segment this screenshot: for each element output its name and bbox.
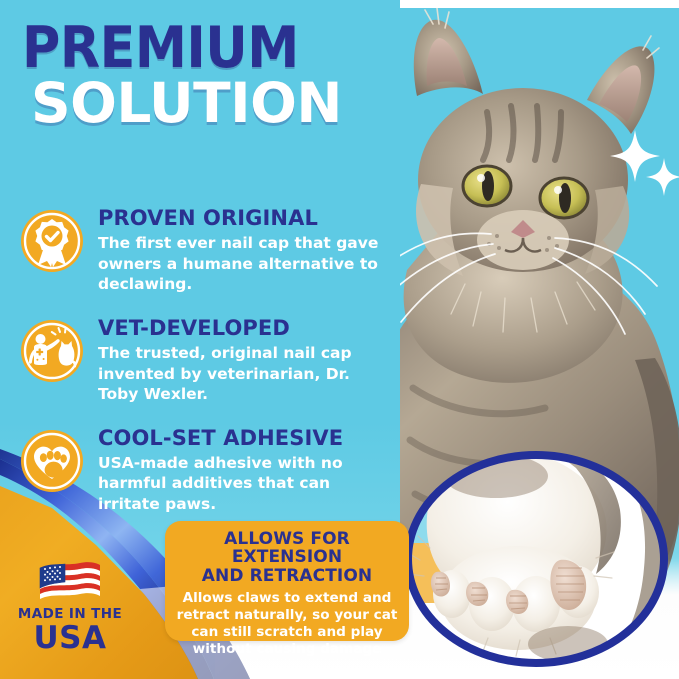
product-infographic: PREMIUM SOLUTION — [0, 0, 679, 679]
feature-title: VET-DEVELOPED — [98, 317, 395, 339]
headline-solution: SOLUTION — [31, 77, 382, 129]
headline-premium: PREMIUM — [22, 22, 389, 74]
callout-box: ALLOWS FOR EXTENSION AND RETRACTION Allo… — [165, 521, 409, 641]
sparkle-icon — [646, 158, 679, 201]
heart-paw-icon — [20, 429, 84, 493]
feature-item: VET-DEVELOPED The trusted, original nail… — [20, 315, 395, 405]
feature-description: The first ever nail cap that gave owners… — [98, 233, 395, 295]
headline-block: PREMIUM SOLUTION — [22, 22, 382, 130]
feature-description: The trusted, original nail cap invented … — [98, 343, 395, 405]
made-in-usa-line2: USA — [10, 623, 130, 654]
feature-item: COOL-SET ADHESIVE USA-made adhesive with… — [20, 425, 395, 515]
cat-paw-closeup-photo — [400, 448, 672, 670]
feature-list: PROVEN ORIGINAL The first ever nail cap … — [20, 205, 395, 535]
feature-item: PROVEN ORIGINAL The first ever nail cap … — [20, 205, 395, 295]
vet-high-five-cat-icon — [20, 319, 84, 383]
award-ribbon-icon — [20, 209, 84, 273]
callout-description: Allows claws to extend and retract natur… — [175, 590, 399, 659]
callout-title-line1: ALLOWS FOR EXTENSION — [175, 530, 399, 567]
made-in-usa-badge: MADE IN THE USA — [10, 560, 130, 654]
feature-description: USA-made adhesive with no harmful additi… — [98, 453, 395, 515]
feature-title: COOL-SET ADHESIVE — [98, 427, 395, 449]
callout-title-line2: AND RETRACTION — [175, 567, 399, 585]
feature-title: PROVEN ORIGINAL — [98, 207, 395, 229]
usa-flag-icon — [38, 560, 102, 600]
